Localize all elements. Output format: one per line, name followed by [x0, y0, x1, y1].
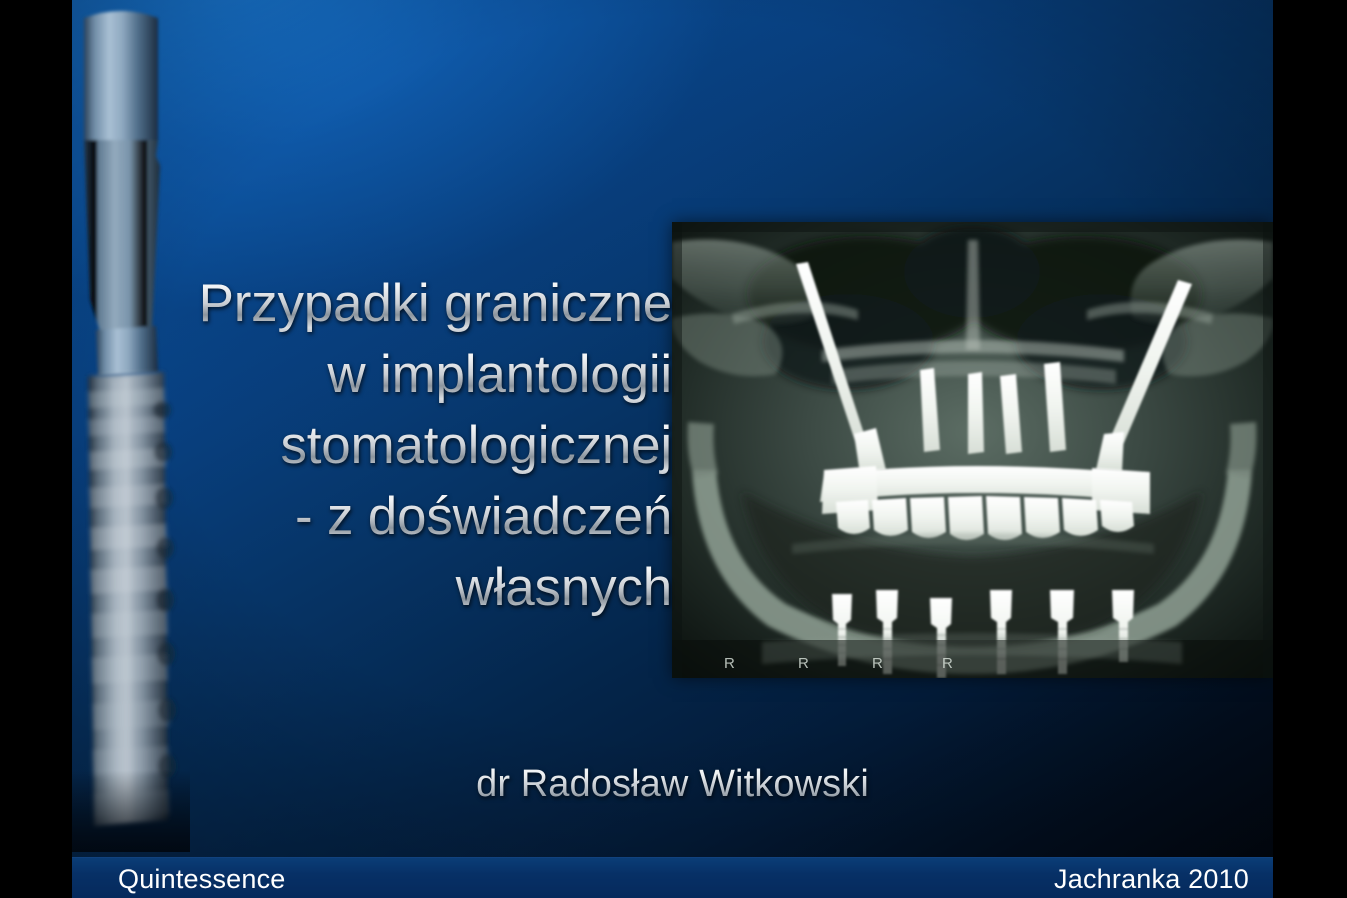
panoramic-dental-xray: R R R R [672, 222, 1273, 678]
svg-text:R: R [942, 655, 953, 672]
footer-publisher: Quintessence [118, 862, 286, 896]
slide-canvas: Przypadki graniczne w implantologii stom… [72, 0, 1273, 898]
title-line-1: Przypadki graniczne [112, 268, 672, 339]
footer-event-location-year: Jachranka 2010 [1054, 862, 1249, 896]
title-line-4: - z doświadczeń [112, 481, 672, 552]
slide-footer-bar: Quintessence Jachranka 2010 [72, 857, 1273, 898]
svg-text:R: R [798, 655, 809, 672]
svg-text:R: R [724, 655, 735, 672]
title-line-2: w implantologii [112, 339, 672, 410]
title-line-3: stomatologicznej [112, 410, 672, 481]
letterbox-right [1273, 0, 1347, 898]
presentation-slide: Przypadki graniczne w implantologii stom… [0, 0, 1347, 898]
title-line-5: własnych [112, 552, 672, 623]
author-name: dr Radosław Witkowski [72, 760, 1273, 808]
svg-text:R: R [872, 655, 883, 672]
slide-title: Przypadki graniczne w implantologii stom… [112, 268, 672, 623]
letterbox-left [0, 0, 72, 898]
